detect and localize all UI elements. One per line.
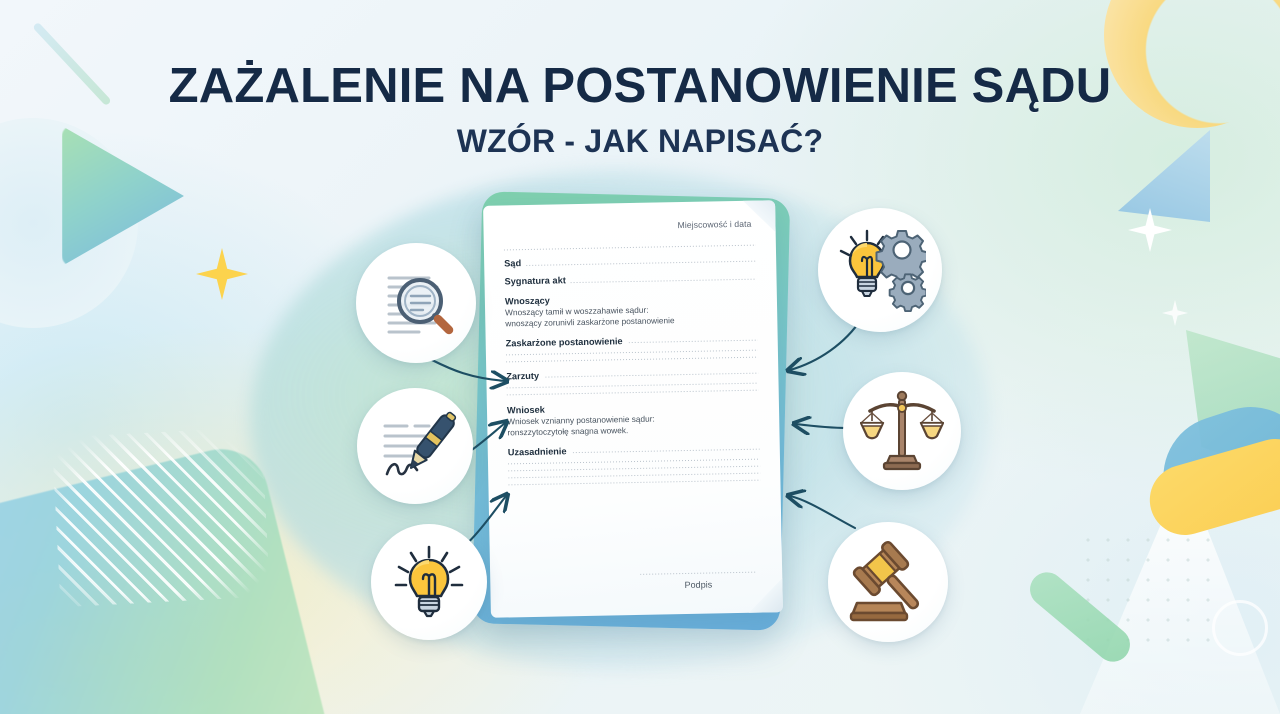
- icon-bubble-lightbulb-gears: [818, 208, 942, 332]
- gear-small: [890, 274, 926, 311]
- rule-line: [508, 465, 760, 471]
- field-sygnatura-akt: Sygnatura akt: [504, 272, 756, 287]
- poster-canvas: ZAŻALENIE NA POSTANOWIENIE SĄDU WZÓR - J…: [0, 0, 1280, 714]
- icon-bubble-gavel: [828, 522, 948, 642]
- section-body: Wnoszący tamił w woszzahawie sądur:wnosz…: [505, 303, 757, 330]
- field-rule: [571, 278, 757, 283]
- sparkle-icon-yellow: [196, 248, 248, 300]
- section-heading: Zarzuty: [506, 371, 539, 382]
- section-rule: [545, 373, 758, 378]
- section-wniosek: Wniosek Wniosek vznianny postanowienie s…: [507, 400, 760, 438]
- rule-line: [507, 382, 759, 388]
- field-label: Sąd: [504, 258, 521, 268]
- signature-rule: [640, 572, 756, 575]
- rule-line: [508, 472, 760, 478]
- section-zarzuty: Zarzuty: [506, 366, 758, 395]
- document-paper: Miejscowość i data Sąd Sygnatura akt Wno…: [483, 200, 783, 618]
- section-heading: Zaskarżone postanowienie: [506, 336, 623, 348]
- icon-bubble-document-magnifier: [356, 243, 476, 363]
- sparkle-icon-white-small: [1162, 300, 1188, 326]
- heading-block: ZAŻALENIE NA POSTANOWIENIE SĄDU WZÓR - J…: [0, 62, 1280, 160]
- lightbulb-gears-icon: [834, 226, 926, 314]
- gear-large: [877, 231, 927, 282]
- rule-line: [507, 389, 759, 395]
- section-rule: [573, 449, 760, 454]
- section-body: Wniosek vznianny postanowienie sądur:ron…: [507, 411, 759, 438]
- decor-ring-bottom-right: [1212, 600, 1268, 656]
- section-uzasadnienie: Uzasadnienie: [508, 442, 761, 485]
- page-subtitle: WZÓR - JAK NAPISAĆ?: [0, 123, 1280, 160]
- field-rule: [526, 260, 756, 265]
- signature-block: Podpis: [640, 572, 756, 591]
- gavel-icon: [845, 539, 931, 625]
- icon-bubble-scales: [843, 372, 961, 490]
- rule-line: [508, 458, 760, 464]
- page-title: ZAŻALENIE NA POSTANOWIENIE SĄDU: [0, 62, 1280, 112]
- lightbulb-icon: [390, 543, 468, 621]
- scales-of-justice-icon: [860, 389, 944, 473]
- document-illustration: Miejscowość i data Sąd Sygnatura akt Wno…: [455, 185, 825, 655]
- icon-bubble-lightbulb: [371, 524, 487, 640]
- section-zaskarzone-postanowienie: Zaskarżone postanowienie: [506, 333, 758, 362]
- rule-line: [504, 245, 756, 251]
- icon-bubble-pen-signature: [357, 388, 473, 504]
- sparkle-icon-white: [1128, 208, 1172, 252]
- decor-hatch-lines: [52, 427, 271, 608]
- section-rule: [629, 340, 758, 343]
- field-sad: Sąd: [504, 254, 756, 269]
- section-wnoszacy: Wnoszący Wnoszący tamił w woszzahawie są…: [505, 292, 758, 330]
- rule-line: [506, 349, 758, 355]
- rule-line: [506, 356, 758, 362]
- document-meta-date: Miejscowość i data: [503, 219, 755, 234]
- field-label: Sygnatura akt: [504, 275, 566, 286]
- rule-line: [508, 479, 760, 485]
- document-pen-signature-icon: [373, 404, 457, 488]
- section-heading: Uzasadnienie: [508, 446, 567, 457]
- document-magnifier-icon: [373, 260, 459, 346]
- signature-label: Podpis: [640, 579, 756, 591]
